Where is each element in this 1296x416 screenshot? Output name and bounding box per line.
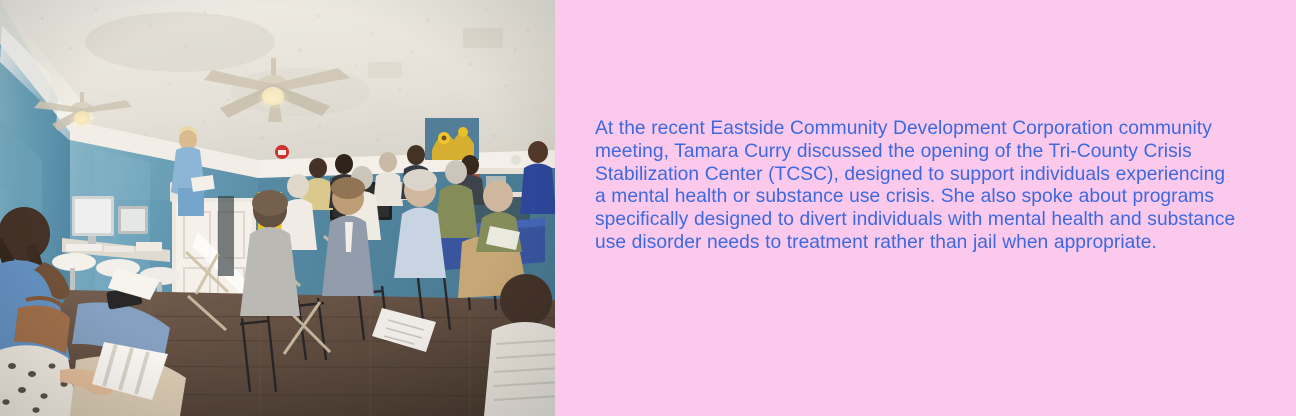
caption-block: At the recent Eastside Community Develop… [595,118,1239,255]
meeting-photograph [0,0,555,416]
meeting-photo-illustration [0,0,555,416]
caption-panel: At the recent Eastside Community Develop… [555,0,1296,416]
caption-text: At the recent Eastside Community Develop… [595,118,1239,255]
article-image-caption-layout: At the recent Eastside Community Develop… [0,0,1296,416]
